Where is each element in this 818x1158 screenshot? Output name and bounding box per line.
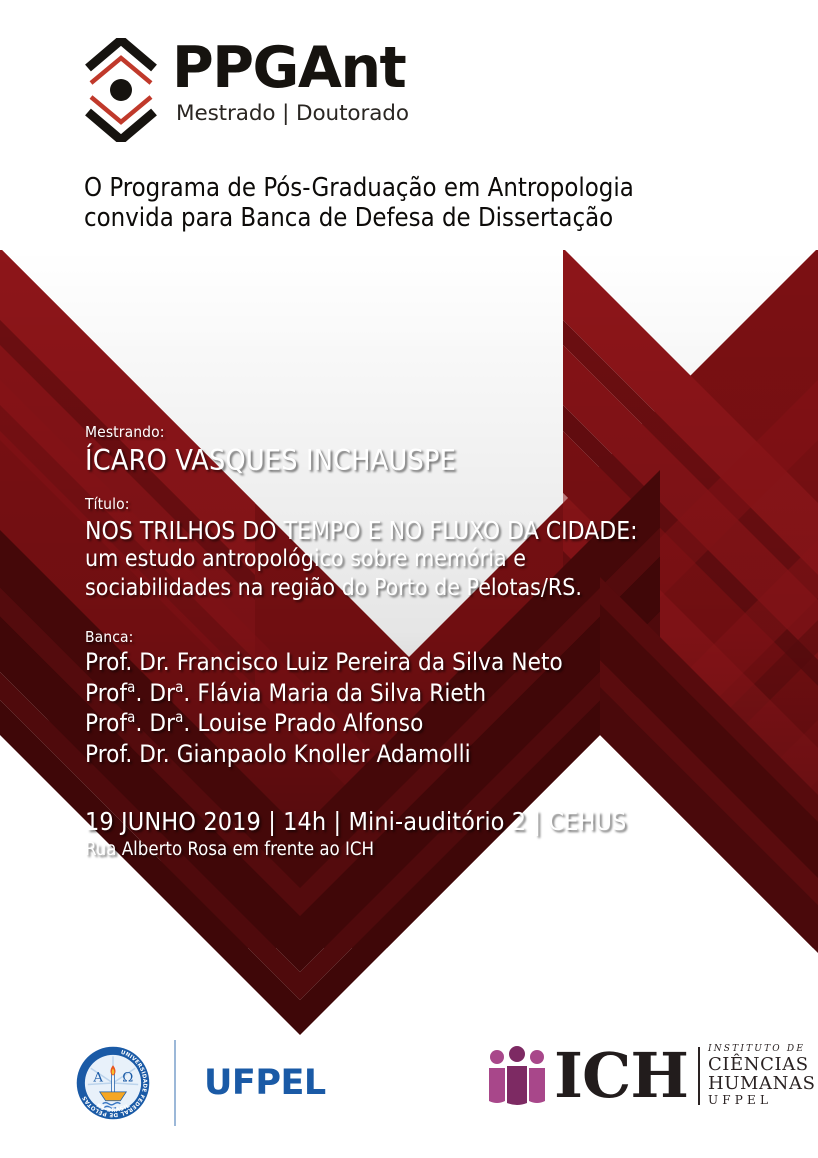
ppgant-subtitle: Mestrado | Doutorado bbox=[176, 102, 409, 126]
banca-member: Profa. Dra. Louise Prado Alfonso bbox=[85, 708, 563, 739]
invitation-text: O Programa de Pós-Graduação em Antropolo… bbox=[84, 173, 634, 233]
ufpel-seal-icon: A Ω UNIVERSIDADE FEDERAL DE PELOTAS bbox=[76, 1046, 150, 1120]
mestrando-name: ÍCARO VASQUES INCHAUSPE bbox=[85, 444, 456, 478]
titulo-block: Título: NOS TRILHOS DO TEMPO E NO FLUXO … bbox=[85, 495, 638, 602]
titulo-label: Título: bbox=[85, 495, 638, 514]
banca-block: Banca: Prof. Dr. Francisco Luiz Pereira … bbox=[85, 628, 563, 769]
titulo-line-1: NOS TRILHOS DO TEMPO E NO FLUXO DA CIDAD… bbox=[85, 516, 638, 545]
svg-text:A: A bbox=[92, 1071, 103, 1086]
ich-logo-group: ICH INSTITUTO DE CIÊNCIAS HUMANAS UFPEL bbox=[486, 1044, 816, 1108]
titulo-line-3: sociabilidades na região do Porto de Pel… bbox=[85, 574, 638, 603]
ich-line-4: UFPEL bbox=[708, 1093, 816, 1108]
ppgant-wordmark: PPGAnt Mestrado | Doutorado bbox=[172, 38, 409, 126]
ich-rule bbox=[698, 1047, 700, 1105]
ppgant-logo: PPGAnt Mestrado | Doutorado bbox=[84, 38, 409, 142]
svg-text:Ω: Ω bbox=[122, 1071, 133, 1086]
ich-line-3: HUMANAS bbox=[708, 1074, 816, 1093]
event-datetime-venue: 19 JUNHO 2019 | 14h | Mini-auditório 2 |… bbox=[85, 806, 626, 837]
ich-text-block: INSTITUTO DE CIÊNCIAS HUMANAS UFPEL bbox=[708, 1044, 816, 1108]
poster-footer: A Ω UNIVERSIDADE FEDERAL DE PELOTAS bbox=[0, 1018, 818, 1158]
mestrando-label: Mestrando: bbox=[85, 423, 456, 442]
mestrando-block: Mestrando: ÍCARO VASQUES INCHAUSPE bbox=[85, 423, 456, 478]
banca-label: Banca: bbox=[85, 628, 563, 647]
ufpel-wordmark: UFPEL bbox=[204, 1063, 326, 1103]
poster-header: PPGAnt Mestrado | Doutorado O Programa d… bbox=[0, 0, 818, 250]
event-details-block: 19 JUNHO 2019 | 14h | Mini-auditório 2 |… bbox=[85, 806, 626, 862]
event-address: Rua Alberto Rosa em frente ao ICH bbox=[85, 838, 626, 862]
ppgant-eye-chevron-logo-icon bbox=[84, 38, 158, 142]
ppgant-title: PPGAnt bbox=[172, 40, 409, 96]
ich-three-people-icon bbox=[486, 1046, 548, 1106]
banca-member: Prof. Dr. Gianpaolo Knoller Adamolli bbox=[85, 739, 563, 770]
ufpel-logo-group: A Ω UNIVERSIDADE FEDERAL DE PELOTAS bbox=[76, 1040, 326, 1126]
banca-member: Profa. Dra. Flávia Maria da Silva Rieth bbox=[85, 678, 563, 709]
ich-acronym: ICH bbox=[554, 1047, 688, 1105]
footer-divider bbox=[174, 1040, 176, 1126]
titulo-line-2: um estudo antropológico sobre memória e bbox=[85, 545, 638, 574]
banca-member: Prof. Dr. Francisco Luiz Pereira da Silv… bbox=[85, 647, 563, 678]
ich-line-2: CIÊNCIAS bbox=[708, 1055, 816, 1074]
